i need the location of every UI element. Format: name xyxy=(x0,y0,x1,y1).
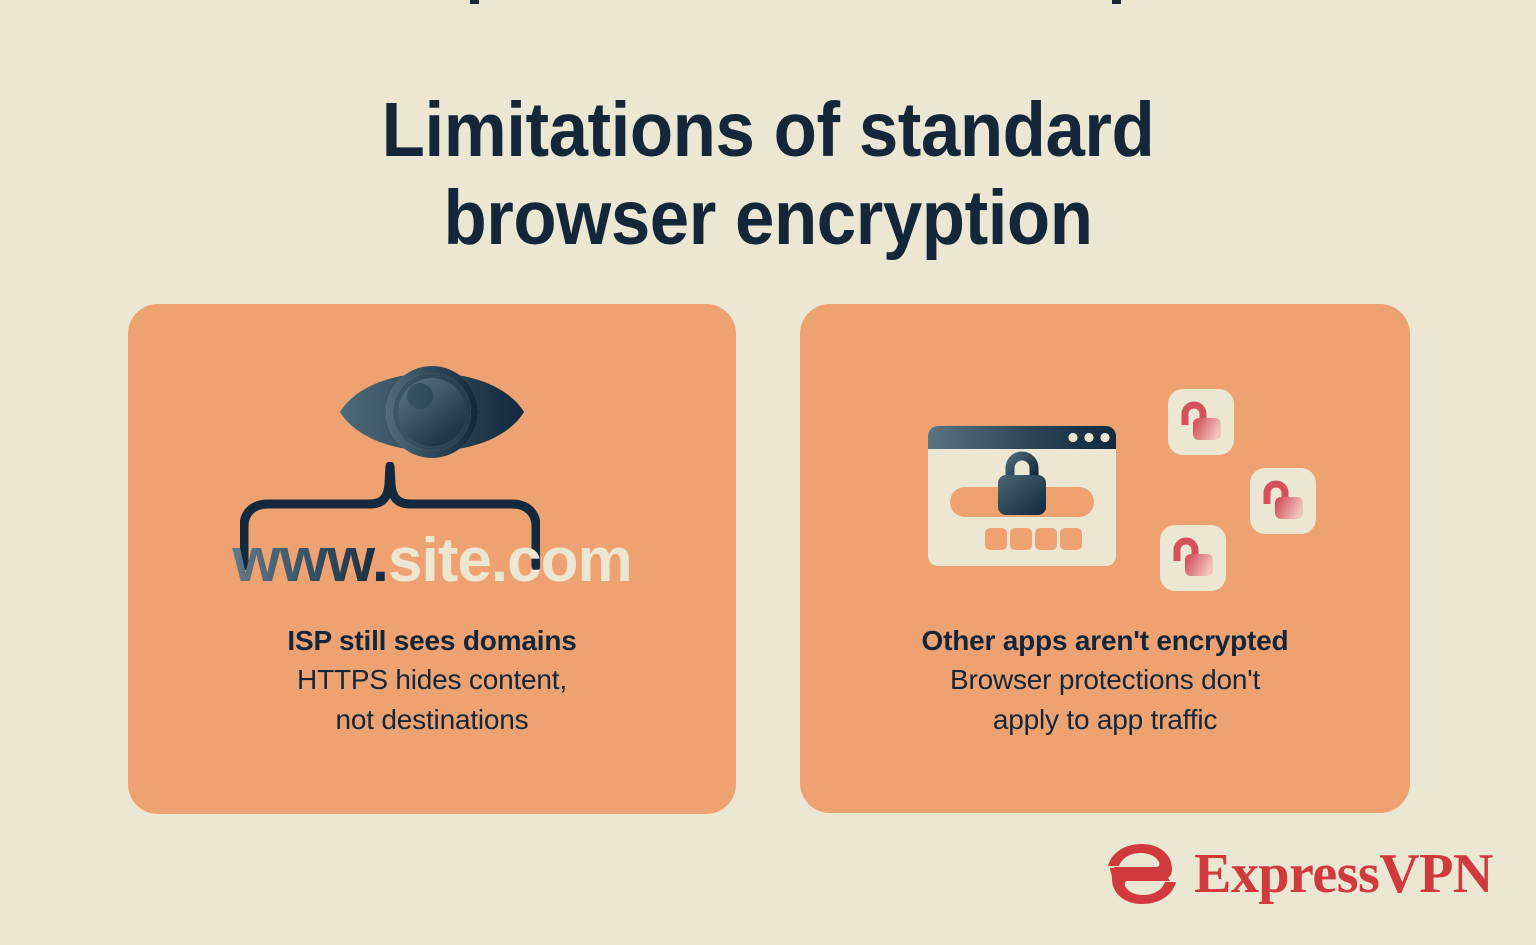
window-dot xyxy=(1100,433,1109,442)
open-padlock-tile xyxy=(1160,525,1226,591)
left-card-subtext-line-2: not destinations xyxy=(128,700,736,740)
cropped-text-sliver xyxy=(0,0,1536,4)
cropped-glyph-fragment xyxy=(470,0,479,4)
card-isp-sees-domains: www.site.com ISP still sees domains HTTP… xyxy=(128,304,736,814)
page-title-line-1: Limitations of standard xyxy=(61,86,1474,174)
eye-icon xyxy=(338,356,526,468)
right-card-subtext: Browser protections don't apply to app t… xyxy=(800,660,1410,740)
open-padlock-tile xyxy=(1168,389,1234,455)
card-other-apps-not-encrypted: Other apps aren't encrypted Browser prot… xyxy=(800,304,1410,813)
open-padlock-tile xyxy=(1250,468,1316,534)
expressvpn-wordmark: ExpressVPN xyxy=(1194,846,1493,902)
left-card-heading: ISP still sees domains xyxy=(128,624,736,658)
page-title-line-2: browser encryption xyxy=(61,174,1474,262)
page-title: Limitations of standard browser encrypti… xyxy=(61,86,1474,262)
window-dot xyxy=(1084,433,1093,442)
infographic-canvas: Limitations of standard browser encrypti… xyxy=(0,0,1536,945)
left-card-subtext-line-1: HTTPS hides content, xyxy=(128,660,736,700)
right-card-heading: Other apps aren't encrypted xyxy=(800,624,1410,658)
url-domain: site.com xyxy=(388,526,632,595)
url-prefix: www. xyxy=(232,526,388,595)
right-card-subtext-line-1: Browser protections don't xyxy=(800,660,1410,700)
expressvpn-mark-icon xyxy=(1102,843,1180,905)
left-card-subtext: HTTPS hides content, not destinations xyxy=(128,660,736,740)
window-dot xyxy=(1068,433,1077,442)
cropped-glyph-fragment xyxy=(1112,0,1121,4)
expressvpn-logo: ExpressVPN xyxy=(1102,841,1493,907)
url-label: www.site.com xyxy=(128,526,736,596)
right-card-subtext-line-2: apply to app traffic xyxy=(800,700,1410,740)
browser-window-icon xyxy=(928,426,1116,566)
